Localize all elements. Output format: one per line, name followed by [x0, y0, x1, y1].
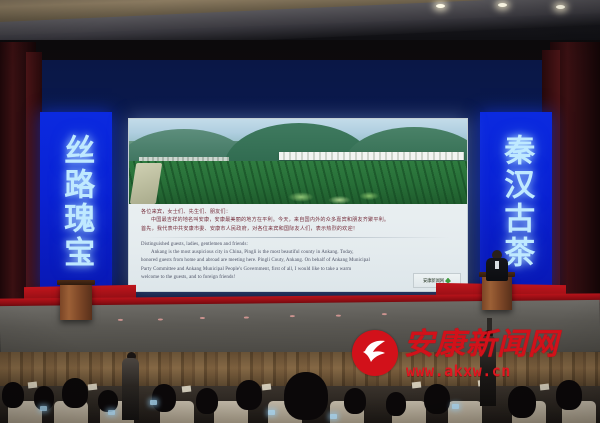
- floor-edge-light: [200, 317, 205, 319]
- audience-phone-screen: [108, 410, 115, 415]
- audience-head: [386, 392, 406, 416]
- podium-left: [60, 284, 92, 320]
- seat-paper: [412, 382, 422, 389]
- audience-head: [556, 380, 582, 410]
- floor-edge-light: [382, 313, 387, 315]
- slide-en-line-4: Party Committee and Ankang Municipal Peo…: [141, 266, 453, 274]
- audience-phone-screen: [452, 404, 459, 409]
- audience-head: [236, 380, 262, 410]
- audience-head: [152, 384, 176, 412]
- floor-edge-light: [158, 318, 163, 320]
- slide-cn-line-2: 中国最吉祥的地名叫安康，安康最美丽的地方在平利。今天，来自国内外的众多嘉宾和朋友…: [141, 216, 453, 224]
- projection-screen: 各位来宾，女士们、先生们、朋友们： 中国最吉祥的地名叫安康，安康最美丽的地方在平…: [128, 118, 468, 292]
- slide-divider: [143, 237, 449, 238]
- audience-head: [62, 378, 88, 408]
- audience-head: [196, 388, 218, 414]
- audience-phone-screen: [150, 400, 157, 405]
- floor-edge-light: [336, 315, 341, 317]
- audience-head: [424, 384, 450, 414]
- ceiling-spotlight: [498, 3, 507, 7]
- ceiling-spotlight: [436, 4, 445, 8]
- slide-cn-line-1: 各位来宾，女士们、先生们、朋友们：: [141, 208, 453, 216]
- audience-head: [508, 386, 536, 418]
- slide-en-line-2: Ankang is the most auspicious city in Ch…: [141, 249, 453, 257]
- audience-phone-screen: [330, 414, 337, 419]
- slide-en-line-1: Distinguished guests, ladies, gentlemen …: [141, 241, 453, 249]
- slide-en-line-5: welcome to the guests, and to foreign fr…: [141, 274, 453, 282]
- audience-head: [284, 372, 328, 420]
- audience-phone-screen: [268, 410, 275, 415]
- photograph-frame: 丝路瑰宝 秦汉古茶 各位来宾，女士们、先生们、朋友们： 中国最吉祥的地名叫安康，…: [0, 0, 600, 423]
- slide-chinese-text: 各位来宾，女士们、先生们、朋友们： 中国最吉祥的地名叫安康，安康最美丽的地方在平…: [141, 208, 453, 233]
- camera-operator-standing: [122, 358, 139, 420]
- slide-text-area: 各位来宾，女士们、先生们、朋友们： 中国最吉祥的地名叫安康，安康最美丽的地方在平…: [129, 204, 467, 291]
- photo-village-row: [279, 152, 464, 160]
- slide-en-line-3: honored guests from home and abroad are …: [141, 257, 453, 265]
- banner-left-text: 丝路瑰宝: [58, 134, 95, 270]
- seat-paper: [182, 386, 192, 393]
- audience-head: [98, 390, 118, 412]
- ceiling-spotlight: [556, 5, 565, 9]
- banner-panel-left: 丝路瑰宝: [40, 112, 112, 292]
- floor-edge-light: [290, 315, 295, 317]
- floor-edge-light: [244, 317, 249, 319]
- audience-head: [344, 388, 366, 414]
- seat-paper: [540, 384, 550, 391]
- slide-english-text: Distinguished guests, ladies, gentlemen …: [141, 241, 453, 282]
- podium-top-surface: [57, 280, 95, 285]
- seat-paper: [28, 382, 38, 389]
- speaker-at-podium: [486, 250, 508, 280]
- audience-head: [2, 382, 24, 408]
- photo-tea-leaves-overlay: [279, 185, 389, 205]
- audience-phone-screen: [40, 406, 47, 411]
- floor-edge-light: [118, 319, 123, 321]
- camera-operator-standing: [480, 336, 496, 406]
- podium-right: [482, 276, 512, 310]
- speaker-shirt: [495, 261, 499, 269]
- slide-tea-plantation-photo: [129, 119, 467, 204]
- seat-paper: [262, 384, 272, 391]
- seat-paper: [88, 384, 98, 391]
- slide-cn-line-3: 首先，我代表中共安康市委、安康市人民政府，对各位来宾和国际友人们，表示热烈的欢迎…: [141, 225, 453, 233]
